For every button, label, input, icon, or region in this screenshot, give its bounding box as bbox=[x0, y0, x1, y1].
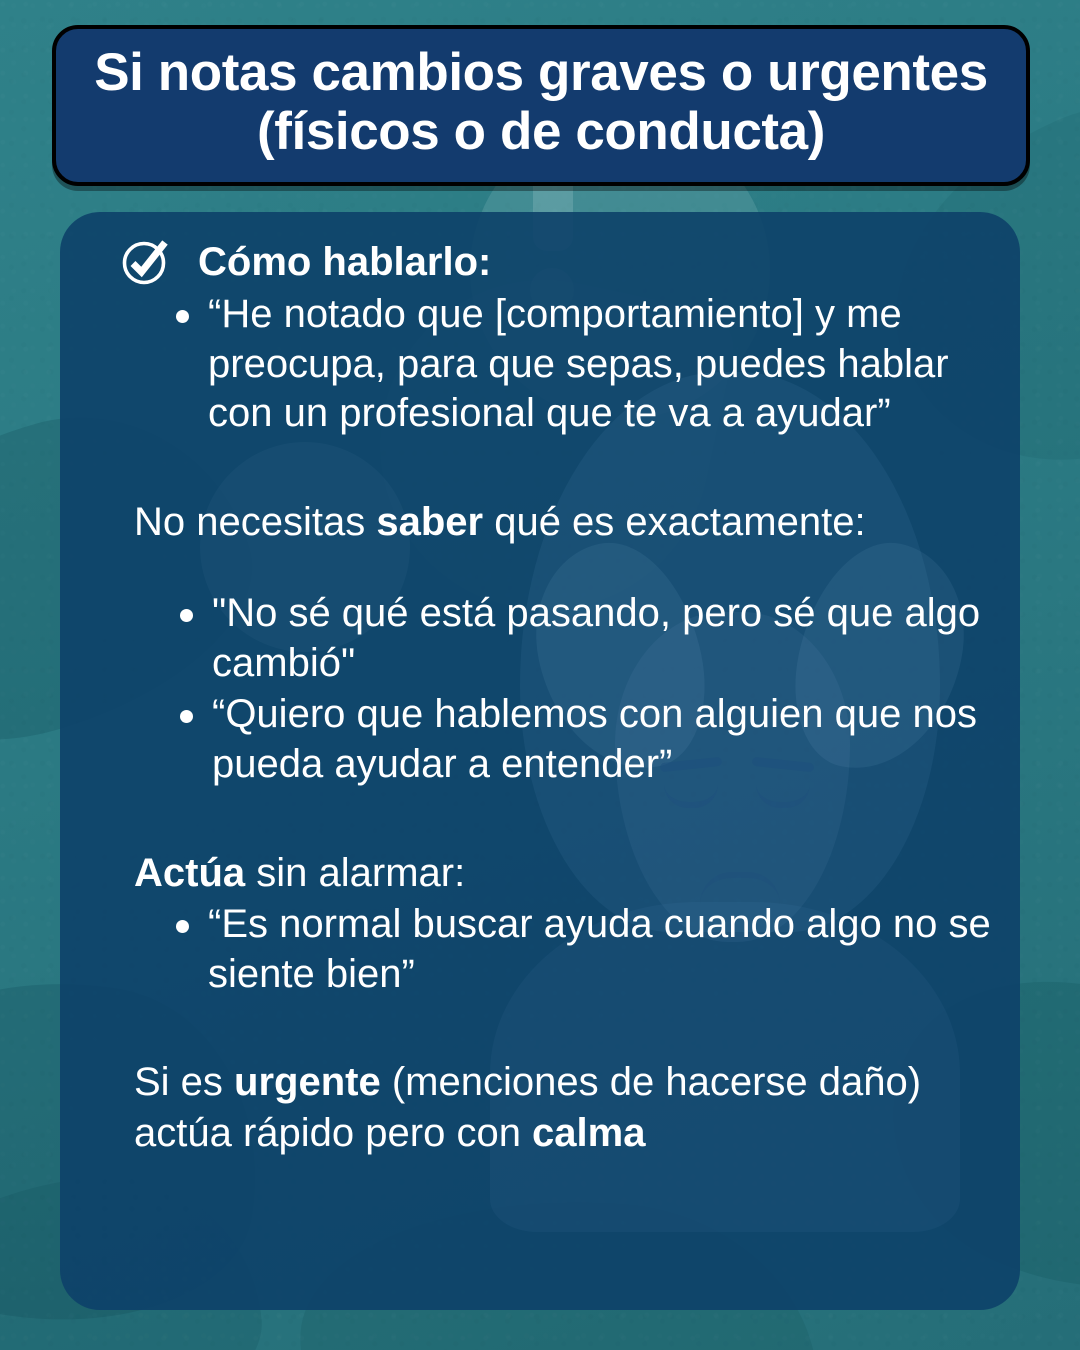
urgent-note-line-2: actúa rápido pero con calma bbox=[72, 1108, 1002, 1158]
calma-bold: calma bbox=[532, 1111, 645, 1155]
calma-prefix: actúa rápido pero con bbox=[134, 1111, 532, 1155]
content-card: Cómo hablarlo: “He notado que [comportam… bbox=[60, 212, 1020, 1310]
list-item: “Quiero que hablemos con alguien que nos… bbox=[72, 690, 1002, 789]
no-need-suffix: qué es exactamente: bbox=[483, 500, 865, 544]
act-bullet-list: “Es normal buscar ayuda cuando algo no s… bbox=[72, 900, 1002, 999]
page-title: Si notas cambios graves o urgentes (físi… bbox=[86, 43, 996, 162]
no-need-bullet-list: "No sé qué está pasando, pero sé que alg… bbox=[72, 589, 1002, 789]
act-bold: Actúa bbox=[134, 851, 245, 895]
act-suffix: sin alarmar: bbox=[245, 851, 465, 895]
spacer bbox=[72, 1001, 1002, 1057]
spacer bbox=[72, 792, 1002, 848]
no-need-to-know-line: No necesitas saber qué es exactamente: bbox=[72, 497, 1002, 547]
how-to-speak-bullet-list: “He notado que [comportamiento] y me pre… bbox=[72, 290, 1002, 439]
urgent-suffix: (menciones de hacerse daño) bbox=[381, 1060, 921, 1104]
poster-canvas: Si notas cambios graves o urgentes (físi… bbox=[0, 0, 1080, 1350]
no-need-prefix: No necesitas bbox=[134, 500, 376, 544]
urgent-prefix: Si es bbox=[134, 1060, 234, 1104]
how-to-speak-label: Cómo hablarlo: bbox=[198, 240, 491, 284]
list-item: “Es normal buscar ayuda cuando algo no s… bbox=[72, 900, 1002, 999]
list-item: "No sé qué está pasando, pero sé que alg… bbox=[72, 589, 1002, 688]
header-banner: Si notas cambios graves o urgentes (físi… bbox=[52, 25, 1030, 186]
act-without-alarm-line: Actúa sin alarmar: bbox=[72, 848, 1002, 898]
list-item: “He notado que [comportamiento] y me pre… bbox=[72, 290, 1002, 439]
spacer bbox=[72, 441, 1002, 497]
spacer bbox=[72, 547, 1002, 587]
urgent-note-line-1: Si es urgente (menciones de hacerse daño… bbox=[72, 1057, 1002, 1107]
urgent-bold: urgente bbox=[234, 1060, 381, 1104]
no-need-bold: saber bbox=[376, 500, 483, 544]
how-to-speak-heading: Cómo hablarlo: bbox=[72, 236, 1002, 288]
check-circle-icon bbox=[120, 236, 172, 288]
